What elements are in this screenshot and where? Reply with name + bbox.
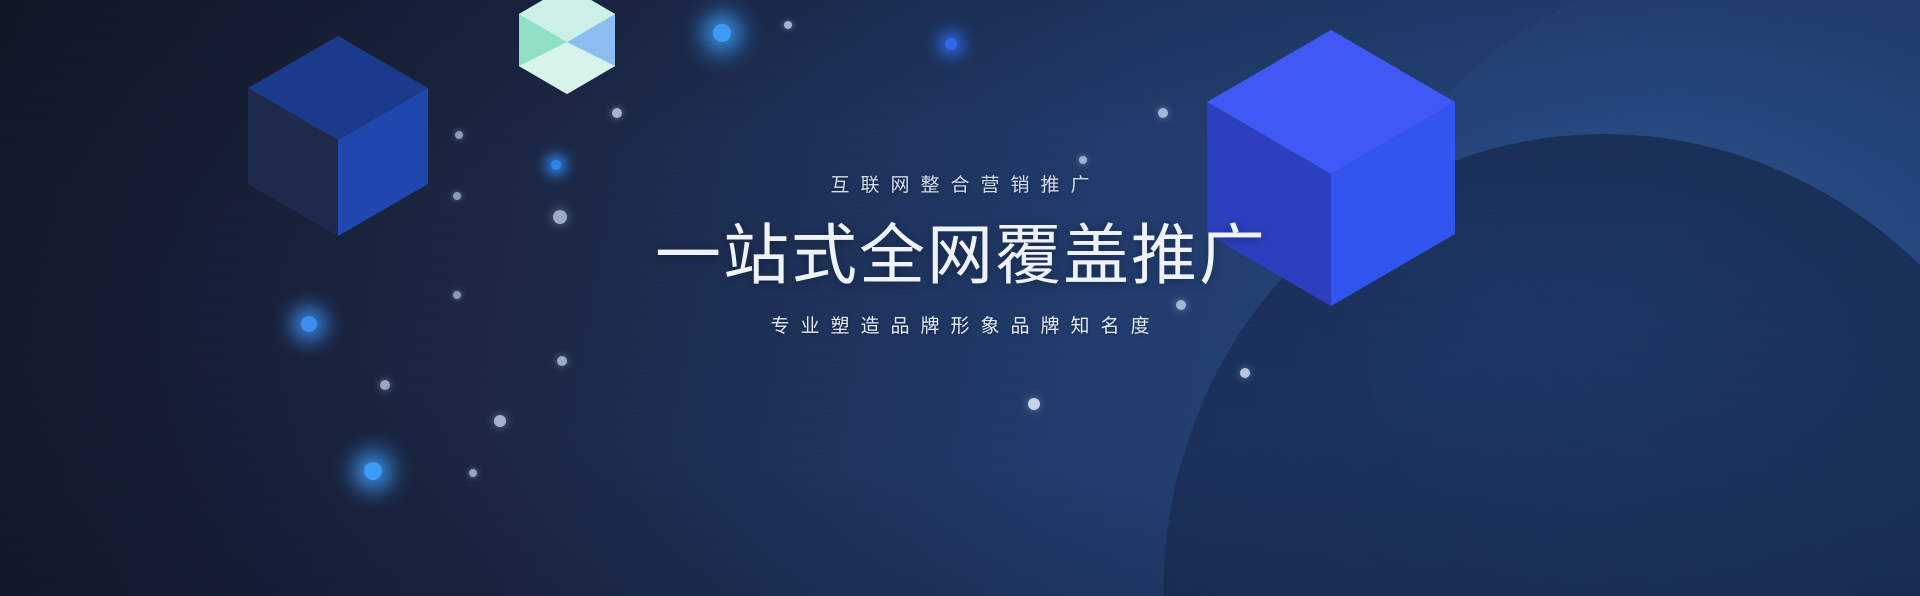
particle-dot [380, 380, 390, 390]
particle-dot [1079, 156, 1087, 164]
banner-eyebrow: 互联网整合营销推广 [0, 176, 1920, 195]
particle-dot [945, 38, 957, 50]
particle-dot [557, 356, 567, 366]
particle-dot [455, 131, 463, 139]
cube-small-mint-icon [519, 0, 615, 94]
particle-dot [494, 415, 506, 427]
particle-dot [469, 469, 477, 477]
hero-banner: 互联网整合营销推广 一站式全网覆盖推广 专业塑造品牌形象品牌知名度 [0, 0, 1920, 596]
particle-dot [1240, 368, 1250, 378]
particle-dot [612, 108, 622, 118]
banner-headline: 一站式全网覆盖推广 [0, 217, 1920, 295]
particle-dot [551, 160, 561, 170]
particle-dot [364, 462, 382, 480]
banner-copy: 互联网整合营销推广 一站式全网覆盖推广 专业塑造品牌形象品牌知名度 [0, 176, 1920, 336]
particle-dot [1158, 108, 1168, 118]
particle-dot [784, 21, 792, 29]
banner-subline: 专业塑造品牌形象品牌知名度 [0, 317, 1920, 336]
particle-dot [1028, 398, 1040, 410]
particle-dot [713, 24, 731, 42]
